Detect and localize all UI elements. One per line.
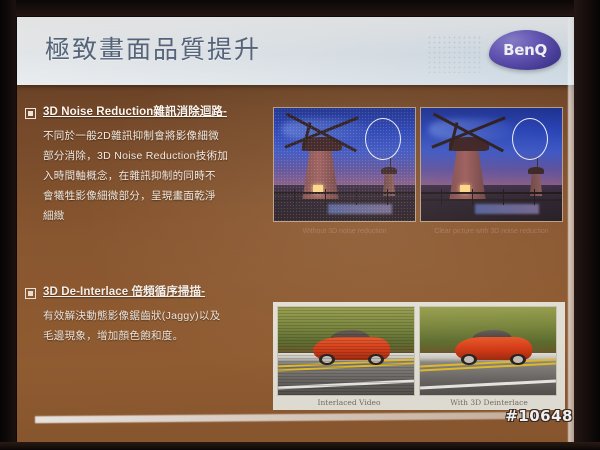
frame-right-border <box>574 0 600 450</box>
bullet-body: 不同於一般2D雜訊抑制會將影像細微 部分消除，3D Noise Reductio… <box>43 126 265 226</box>
slide-body-text: 3D Noise Reduction雜訊消除迴路- 不同於一般2D雜訊抑制會將影… <box>17 85 267 443</box>
page-title: 極致畫面品質提升 <box>45 30 261 66</box>
image-noise-overlay <box>274 108 415 221</box>
car-image-deinterlaced <box>419 306 557 396</box>
bullet-body: 有效解決動態影像鋸齒狀(Jaggy)以及 毛邊現象，增加顏色飽和度。 <box>43 306 265 346</box>
benq-logo: BenQ <box>489 30 561 70</box>
presentation-slide: 極致畫面品質提升 BenQ 3D Noise Reduction雜訊消除迴路- … <box>17 17 579 443</box>
highlight-circle-icon <box>512 118 548 160</box>
body-line: 部分消除，3D Noise Reduction技術加 <box>43 146 265 166</box>
slide-header: 極致畫面品質提升 BenQ <box>17 17 579 85</box>
second-windmill-cap <box>528 167 544 174</box>
body-line: 有效解決動態影像鋸齒狀(Jaggy)以及 <box>43 306 265 326</box>
car-image-interlaced <box>277 306 415 396</box>
body-line: 入時間軸概念，在雜訊抑制的同時不 <box>43 166 265 186</box>
windmill-image-without-nr <box>273 107 416 222</box>
windmill-image-with-nr <box>420 107 563 222</box>
frame-left-border <box>0 0 16 450</box>
bullet-heading: 3D Noise Reduction雜訊消除迴路- <box>43 105 227 119</box>
body-line: 不同於一般2D雜訊抑制會將影像細微 <box>43 126 265 146</box>
frame-top-border <box>0 0 600 16</box>
logo-text: BenQ <box>489 30 561 70</box>
water <box>475 204 540 214</box>
frame-bottom-border <box>0 442 600 450</box>
fence-post <box>503 189 505 205</box>
image-pair <box>277 306 561 396</box>
bullet-heading-row: 3D Noise Reduction雜訊消除迴路- <box>25 105 265 119</box>
fence-post <box>441 189 443 205</box>
projected-slide-photo: 極致畫面品質提升 BenQ 3D Noise Reduction雜訊消除迴路- … <box>0 0 600 450</box>
bullet-heading-row: 3D De-Interlace 倍頻循序掃描- <box>25 285 265 299</box>
caption-with-3d-deinterlace: With 3D Deinterlace <box>421 398 557 407</box>
interlace-artifact-overlay <box>278 307 414 395</box>
body-line: 細緻 <box>43 206 265 226</box>
body-line: 會犧牲影像細微部分，呈現畫面乾淨 <box>43 186 265 206</box>
watermark-id: #10648 <box>505 407 573 425</box>
figure-captions: Without 3D noise reduction Clear picture… <box>273 227 563 237</box>
dot-pattern-decoration <box>427 35 483 73</box>
fence-post <box>534 189 536 205</box>
caption-without-nr: Without 3D noise reduction <box>273 227 416 237</box>
bullet-item-noise-reduction: 3D Noise Reduction雜訊消除迴路- 不同於一般2D雜訊抑制會將影… <box>25 105 265 226</box>
bullet-heading: 3D De-Interlace 倍頻循序掃描- <box>43 285 205 299</box>
square-bullet-icon <box>25 108 36 119</box>
caption-with-nr: Clear picture with 3D noise reduction <box>420 227 563 237</box>
image-pair <box>273 107 563 222</box>
figure-noise-reduction: Without 3D noise reduction Clear picture… <box>273 107 563 237</box>
fence-post <box>472 189 474 205</box>
figure-deinterlace: Interlaced Video With 3D Deinterlace <box>273 302 565 410</box>
square-bullet-icon <box>25 288 36 299</box>
caption-interlaced-video: Interlaced Video <box>281 398 417 407</box>
body-line: 毛邊現象，增加顏色飽和度。 <box>43 326 265 346</box>
image-pair-frame: Interlaced Video With 3D Deinterlace <box>273 302 565 410</box>
bullet-item-de-interlace: 3D De-Interlace 倍頻循序掃描- 有效解決動態影像鋸齒狀(Jagg… <box>25 285 265 346</box>
